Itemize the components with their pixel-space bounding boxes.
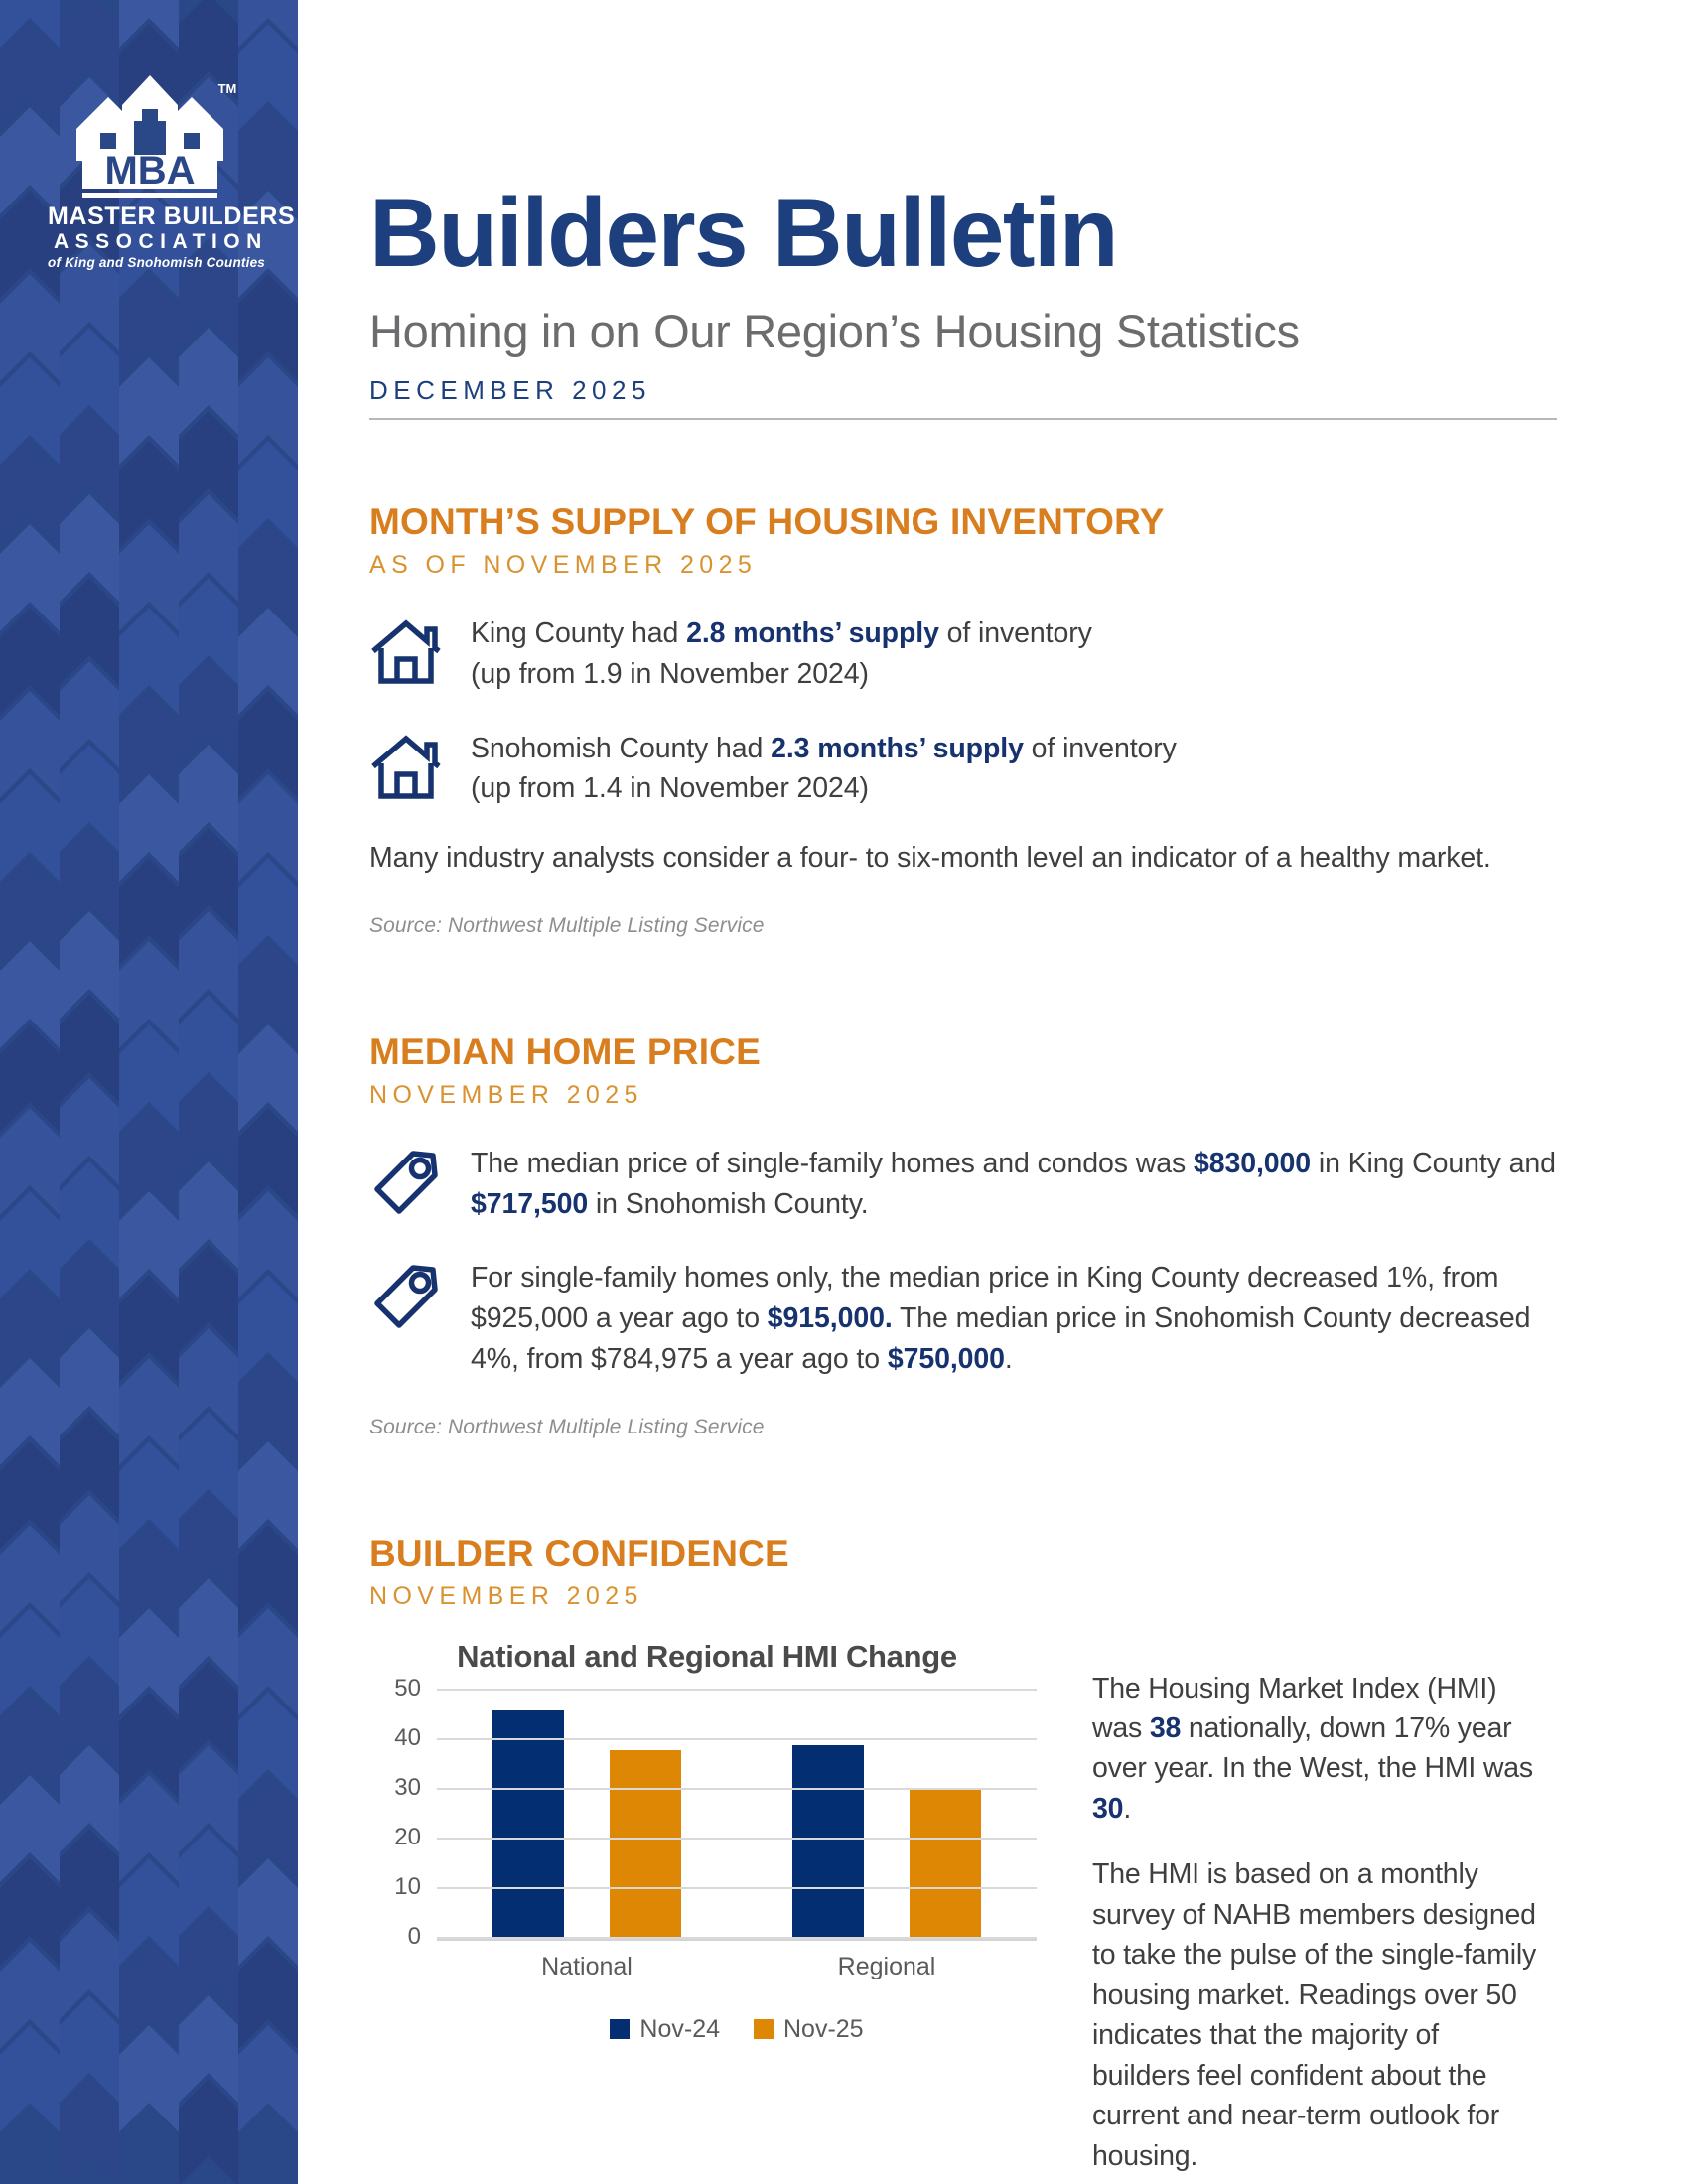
chart-plot-area: 01020304050 <box>437 1693 1037 1941</box>
bullet-king-county-supply: King County had 2.8 months’ supply of in… <box>369 614 1569 695</box>
chevron-column <box>179 0 238 2184</box>
supply-healthy-market-note: Many industry analysts consider a four- … <box>369 839 1569 879</box>
house-icon <box>369 729 471 804</box>
section-subtitle-builder-confidence: NOVEMBER 2025 <box>369 1582 1569 1611</box>
chart-y-tick-label: 50 <box>394 1675 421 1703</box>
chart-y-tick-label: 40 <box>394 1724 421 1752</box>
median-all-p1: The median price of single-family homes … <box>471 1148 1194 1179</box>
bullet-text: The median price of single-family homes … <box>471 1144 1569 1225</box>
hmi-national-value: 38 <box>1150 1712 1181 1744</box>
chevron-column <box>0 0 60 2184</box>
chevron-shape <box>179 2079 238 2184</box>
median-snohomish-value: $717,500 <box>471 1188 588 1220</box>
chart-title: National and Regional HMI Change <box>369 1639 1064 1675</box>
chart-x-label: Regional <box>737 1953 1037 1981</box>
hmi-paragraph-1: The Housing Market Index (HMI) was 38 na… <box>1092 1669 1541 1830</box>
section-subtitle-median-price: NOVEMBER 2025 <box>369 1081 1569 1110</box>
logo-line-counties: of King and Snohomish Counties <box>48 254 251 272</box>
chart-x-label: National <box>437 1953 737 1981</box>
supply-king-value: 2.8 months’ supply <box>686 617 939 649</box>
chevron-column <box>119 0 179 2184</box>
chart-gridline: 30 <box>437 1788 1037 1790</box>
chart-bar <box>610 1750 681 1939</box>
logo-line-master-builders: MASTER BUILDERS <box>48 204 251 229</box>
chart-gridline: 40 <box>437 1738 1037 1740</box>
bullet-median-all-homes: The median price of single-family homes … <box>369 1144 1569 1225</box>
supply-snohomish-line2: (up from 1.4 in November 2024) <box>471 772 869 804</box>
chart-y-tick-label: 10 <box>394 1873 421 1901</box>
hmi-west-value: 30 <box>1092 1793 1123 1825</box>
sf-median-snohomish-value: $750,000 <box>888 1343 1005 1375</box>
decorative-sidebar: MBA TM MASTER BUILDERS ASSOCIATION of Ki… <box>0 0 298 2184</box>
section-title-median-price: MEDIAN HOME PRICE <box>369 1033 1569 1072</box>
chevron-shape <box>119 2025 179 2132</box>
chart-y-tick-label: 20 <box>394 1824 421 1851</box>
chart-bar-group <box>737 1693 1037 1939</box>
supply-snohomish-value: 2.3 months’ supply <box>771 733 1024 764</box>
bullet-median-single-family: For single-family homes only, the median… <box>369 1258 1569 1379</box>
median-all-p2: in King County and <box>1311 1148 1556 1179</box>
chart-y-tick-label: 0 <box>408 1923 421 1951</box>
chart-legend: Nov-24Nov-25 <box>437 2015 1037 2044</box>
section-subtitle-supply: AS OF NOVEMBER 2025 <box>369 551 1569 580</box>
section-title-supply: MONTH’S SUPPLY OF HOUSING INVENTORY <box>369 503 1569 542</box>
trademark-icon: TM <box>217 81 236 96</box>
supply-source: Source: Northwest Multiple Listing Servi… <box>369 914 1569 938</box>
hmi-chart: National and Regional HMI Change 0102030… <box>369 1639 1064 2184</box>
supply-king-pre: King County had <box>471 617 686 649</box>
chevron-column <box>60 0 119 2184</box>
chart-legend-label: Nov-24 <box>639 2015 720 2044</box>
bulletin-page: MBA TM MASTER BUILDERS ASSOCIATION of Ki… <box>0 0 1688 2184</box>
page-subtitle: Homing in on Our Region’s Housing Statis… <box>369 307 1569 355</box>
chevron-column <box>238 0 298 2184</box>
hmi-description: The Housing Market Index (HMI) was 38 na… <box>1064 1639 1541 2184</box>
chart-gridline: 50 <box>437 1689 1037 1691</box>
median-price-source: Source: Northwest Multiple Listing Servi… <box>369 1416 1569 1439</box>
bullet-text: Snohomish County had 2.3 months’ supply … <box>471 729 1569 810</box>
chart-bar <box>492 1710 564 1939</box>
chart-gridline: 0 <box>437 1937 1037 1939</box>
page-title: Builders Bulletin <box>369 184 1569 281</box>
house-icon <box>369 614 471 689</box>
chart-legend-swatch <box>610 2019 630 2039</box>
chevron-shape <box>238 2025 298 2132</box>
chart-legend-item[interactable]: Nov-24 <box>610 2015 720 2044</box>
chart-bar-group <box>437 1693 737 1939</box>
section-builder-confidence: BUILDER CONFIDENCE NOVEMBER 2025 Nationa… <box>369 1535 1569 2184</box>
mba-logo-mark: MBA TM <box>61 69 239 204</box>
sf-median-p3: . <box>1005 1343 1013 1375</box>
confidence-body: National and Regional HMI Change 0102030… <box>369 1639 1569 2184</box>
section-housing-supply: MONTH’S SUPPLY OF HOUSING INVENTORY AS O… <box>369 503 1569 938</box>
hmi-p1-post: . <box>1123 1793 1131 1825</box>
chart-legend-item[interactable]: Nov-25 <box>754 2015 864 2044</box>
chart-gridline: 20 <box>437 1838 1037 1840</box>
median-king-value: $830,000 <box>1194 1148 1311 1179</box>
chart-y-tick-label: 30 <box>394 1774 421 1802</box>
supply-king-post: of inventory <box>939 617 1092 649</box>
mba-logo: MBA TM MASTER BUILDERS ASSOCIATION of Ki… <box>48 69 251 272</box>
masthead: Builders Bulletin Homing in on Our Regio… <box>369 0 1569 420</box>
chart-legend-swatch <box>754 2019 774 2039</box>
section-title-builder-confidence: BUILDER CONFIDENCE <box>369 1535 1569 1573</box>
median-all-p3: in Snohomish County. <box>588 1188 869 1220</box>
supply-snohomish-post: of inventory <box>1024 733 1177 764</box>
sf-median-king-value: $915,000. <box>768 1302 893 1334</box>
supply-snohomish-pre: Snohomish County had <box>471 733 771 764</box>
bullet-snohomish-county-supply: Snohomish County had 2.3 months’ supply … <box>369 729 1569 810</box>
chart-bars <box>437 1693 1037 1939</box>
main-content: Builders Bulletin Homing in on Our Regio… <box>369 0 1569 2184</box>
issue-date: DECEMBER 2025 <box>369 375 1569 406</box>
bullet-text: King County had 2.8 months’ supply of in… <box>471 614 1569 695</box>
chart-bar <box>910 1790 981 1939</box>
hmi-paragraph-2: The HMI is based on a monthly survey of … <box>1092 1854 1541 2176</box>
section-median-home-price: MEDIAN HOME PRICE NOVEMBER 2025 The medi… <box>369 1033 1569 1439</box>
chart-bar <box>792 1745 864 1939</box>
price-tag-icon <box>369 1144 471 1219</box>
chevron-shape <box>0 2025 60 2132</box>
chart-gridline: 10 <box>437 1887 1037 1889</box>
price-tag-icon <box>369 1258 471 1333</box>
supply-king-line2: (up from 1.9 in November 2024) <box>471 658 869 690</box>
masthead-divider <box>369 418 1557 420</box>
bullet-text: For single-family homes only, the median… <box>471 1258 1569 1379</box>
chevron-shape <box>60 2079 119 2184</box>
chart-legend-label: Nov-25 <box>783 2015 864 2044</box>
mba-monogram: MBA <box>104 149 195 193</box>
chart-x-axis-labels: NationalRegional <box>437 1953 1037 1981</box>
logo-line-association: ASSOCIATION <box>48 229 251 254</box>
